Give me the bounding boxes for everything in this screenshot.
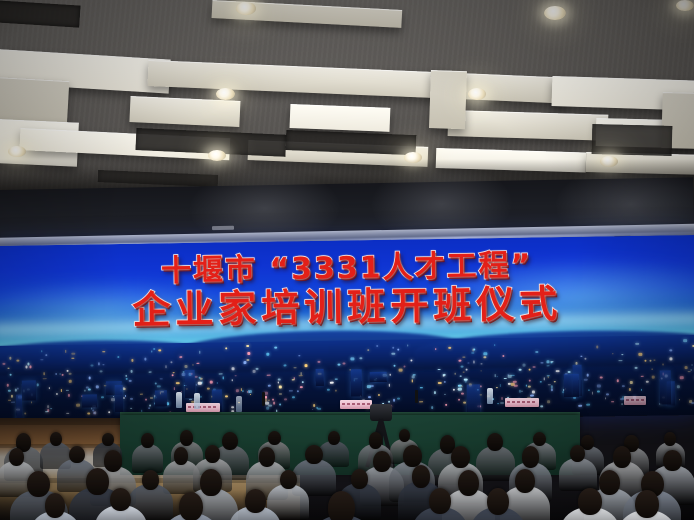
city-light (523, 364, 526, 367)
ceiling-vent (592, 124, 673, 156)
city-light (43, 378, 47, 379)
city-light (268, 405, 272, 407)
city-light (480, 370, 482, 372)
microphone-icon (262, 392, 265, 406)
city-light (452, 389, 454, 391)
city-light (304, 364, 307, 367)
city-tower (659, 370, 671, 405)
city-light (130, 398, 133, 399)
audience-person-head (280, 470, 297, 489)
city-light (123, 387, 125, 389)
audience-person-head (613, 446, 631, 468)
city-light (145, 358, 147, 361)
city-light (546, 360, 550, 363)
city-light (96, 386, 98, 389)
audience-person-head (663, 450, 681, 471)
city-light (461, 385, 463, 386)
city-light (688, 371, 690, 372)
city-light (98, 362, 100, 365)
city-light (480, 385, 482, 387)
city-light (463, 402, 465, 404)
city-light (265, 396, 267, 399)
city-light (219, 373, 223, 374)
city-light (8, 399, 12, 400)
city-light (551, 388, 553, 390)
city-light (292, 396, 295, 398)
city-light (268, 399, 270, 401)
audience-person-head (69, 446, 84, 464)
city-light (65, 350, 67, 353)
ceiling-panel (129, 96, 240, 127)
city-light (458, 399, 461, 401)
city-light (7, 384, 9, 386)
city-light (72, 353, 76, 355)
city-light (605, 398, 607, 400)
city-light (420, 387, 422, 388)
city-light (540, 381, 542, 383)
place-card-icon (505, 398, 539, 407)
city-light (157, 386, 161, 388)
city-light (197, 363, 200, 364)
city-light (149, 371, 152, 372)
audience-person-head (578, 488, 602, 515)
city-tower (22, 380, 37, 400)
city-light (297, 390, 299, 392)
city-light (69, 379, 72, 382)
city-light (584, 379, 587, 381)
city-light (543, 377, 544, 380)
city-light (244, 361, 247, 363)
city-light (530, 394, 534, 396)
city-light (236, 389, 238, 392)
city-light (8, 390, 10, 392)
audience-person-head (369, 432, 383, 449)
city-light (301, 381, 304, 383)
city-light (207, 388, 210, 389)
city-light (444, 381, 446, 383)
city-light (630, 381, 633, 383)
microphone-icon (415, 390, 418, 403)
city-light (272, 399, 274, 401)
city-light (246, 359, 249, 361)
city-light (130, 370, 132, 372)
audience-person-head (9, 448, 24, 467)
city-light (172, 372, 174, 374)
city-light (199, 377, 201, 379)
city-light (690, 369, 691, 371)
city-light (597, 390, 600, 392)
city-light (420, 401, 424, 403)
audience-person-head (429, 488, 451, 514)
city-light (460, 365, 463, 367)
city-light (677, 386, 680, 389)
city-light (467, 363, 469, 364)
city-light (592, 392, 593, 395)
city-light (8, 368, 10, 369)
city-light (438, 369, 440, 370)
audience-person-head (599, 470, 620, 495)
city-light (66, 390, 68, 391)
audience-person (559, 458, 597, 491)
city-light (398, 349, 400, 351)
city-light (174, 387, 176, 390)
city-light (247, 391, 249, 393)
city-light (327, 389, 330, 390)
city-light (171, 362, 172, 364)
water-bottle-icon (487, 388, 493, 404)
city-light (232, 379, 233, 382)
city-light (596, 346, 598, 348)
city-light (247, 352, 250, 355)
city-light (393, 347, 395, 349)
city-light (342, 362, 345, 364)
city-tower (155, 390, 167, 406)
city-light (433, 391, 435, 394)
city-light (454, 373, 456, 375)
audience-person-head (222, 432, 238, 450)
city-light (266, 352, 269, 355)
city-light (25, 366, 28, 369)
city-light (394, 365, 395, 367)
city-light (438, 382, 441, 383)
city-light (635, 367, 638, 369)
city-light (312, 409, 313, 411)
city-light (388, 401, 390, 403)
city-light (99, 371, 103, 373)
city-light (279, 393, 283, 394)
city-tower (315, 369, 323, 385)
city-light (484, 356, 486, 358)
city-light (636, 343, 639, 345)
city-light (88, 389, 91, 391)
city-light (641, 376, 644, 377)
city-light (159, 379, 162, 380)
city-light (150, 398, 152, 399)
city-light (252, 370, 255, 373)
audience-person-head (142, 470, 160, 490)
city-light (11, 401, 14, 402)
city-light (71, 358, 74, 359)
city-light (573, 397, 576, 399)
city-light (68, 373, 71, 375)
city-light (171, 374, 173, 376)
city-light (250, 394, 252, 395)
city-light (145, 398, 148, 400)
city-light (155, 383, 157, 385)
city-light (670, 358, 673, 360)
downlight-icon (544, 6, 566, 20)
audience-person-head (102, 433, 114, 446)
audience-person-head (179, 492, 203, 520)
city-light (496, 376, 497, 378)
city-light (274, 401, 276, 404)
water-bottle-icon (176, 392, 182, 408)
city-light (483, 353, 487, 356)
city-light (337, 364, 341, 366)
city-light (521, 390, 524, 392)
city-light (622, 385, 625, 387)
city-light (284, 364, 287, 366)
downlight-icon (676, 0, 694, 11)
audience-person-head (328, 431, 340, 445)
city-light (528, 386, 531, 388)
city-light (108, 411, 110, 413)
city-light (651, 369, 653, 370)
city-light (653, 359, 655, 361)
city-light (101, 396, 104, 398)
city-light (547, 377, 548, 379)
city-light (151, 350, 153, 353)
city-light (528, 380, 531, 381)
city-light (532, 391, 535, 394)
audience-person-head (205, 445, 221, 463)
city-light (474, 361, 475, 364)
city-light (11, 395, 13, 397)
city-light (232, 368, 235, 371)
city-light (225, 347, 228, 349)
city-light (443, 374, 445, 377)
city-light (192, 364, 193, 365)
audience-person-head (515, 469, 535, 493)
city-light (292, 379, 295, 380)
city-light (2, 363, 5, 365)
city-light (37, 383, 39, 386)
city-light (494, 344, 495, 346)
downlight-icon (8, 146, 26, 157)
city-light (48, 406, 49, 408)
city-light (403, 366, 405, 368)
city-light (500, 385, 501, 388)
city-light (378, 394, 380, 396)
audience-person-head (305, 445, 322, 464)
audience-person-head (351, 469, 368, 489)
city-light (650, 360, 652, 362)
city-light (368, 349, 370, 351)
city-light (234, 375, 237, 377)
city-light (24, 412, 27, 415)
city-light (502, 355, 504, 358)
city-light (606, 393, 609, 396)
city-light (289, 390, 293, 391)
city-light (246, 345, 249, 347)
city-tower (370, 371, 387, 382)
city-light (622, 403, 623, 404)
city-light (268, 384, 271, 387)
city-light (472, 352, 474, 353)
city-light (330, 381, 333, 383)
city-light (67, 370, 69, 371)
city-light (464, 379, 467, 381)
city-light (435, 348, 437, 350)
audience-person-head (259, 447, 276, 467)
city-light (45, 354, 48, 356)
audience-person-head (104, 450, 122, 471)
city-light (84, 390, 86, 392)
city-light (200, 377, 202, 379)
city-light (514, 385, 518, 387)
city-light (62, 374, 64, 376)
conference-hall-photo: 十堰市 “3331人才工程” 企业家培训班开班仪式 (0, 0, 694, 520)
city-light (611, 401, 615, 402)
city-light (359, 358, 362, 360)
city-light (44, 372, 45, 375)
city-light (41, 350, 43, 353)
city-light (185, 365, 187, 368)
audience-person-head (412, 465, 431, 488)
city-light (459, 376, 461, 377)
city-light (231, 406, 234, 408)
audience-person-head (45, 493, 65, 518)
city-light (90, 365, 94, 367)
city-light (199, 350, 200, 353)
city-light (277, 382, 278, 384)
city-light (597, 385, 601, 388)
city-light (16, 360, 19, 363)
city-light (368, 396, 371, 398)
city-light (87, 412, 90, 414)
city-light (56, 393, 58, 395)
city-light (56, 373, 58, 375)
audience-person-head (522, 446, 539, 467)
city-light (60, 389, 61, 392)
city-light (411, 375, 414, 378)
city-light (265, 402, 269, 405)
city-light (216, 383, 217, 384)
city-tower (351, 370, 362, 397)
audience-person-head (373, 451, 390, 472)
city-light (444, 394, 446, 395)
audience-person-head (141, 433, 153, 448)
city-light (335, 389, 336, 391)
city-light (299, 376, 303, 377)
city-light (533, 366, 536, 368)
city-light (266, 407, 268, 410)
city-light (461, 393, 464, 394)
city-light (613, 353, 614, 354)
city-light (298, 355, 299, 356)
city-light (462, 357, 465, 358)
city-light (50, 408, 52, 410)
city-light (410, 359, 412, 361)
city-light (165, 365, 166, 368)
city-light (629, 388, 631, 391)
city-light (397, 398, 399, 400)
audience-person-head (50, 432, 62, 446)
city-light (198, 381, 202, 384)
city-light (255, 368, 258, 370)
water-bottle-icon (236, 396, 242, 412)
city-light (540, 362, 543, 364)
city-light (508, 375, 512, 378)
city-light (685, 367, 688, 370)
city-light (225, 395, 228, 397)
city-light (294, 367, 296, 369)
city-tower (564, 374, 579, 398)
city-light (300, 386, 303, 388)
city-light (619, 360, 622, 361)
city-light (586, 403, 590, 406)
city-light (669, 350, 673, 351)
audience-person-head (245, 489, 266, 512)
audience-person-head (664, 432, 676, 446)
city-light (29, 366, 31, 368)
city-light (102, 365, 105, 366)
city-light (445, 404, 446, 406)
audience-person-head (180, 430, 193, 446)
city-light (651, 376, 655, 378)
city-light (407, 344, 408, 346)
wall-plate (212, 226, 234, 230)
audience-person-head (487, 433, 503, 451)
city-light (644, 360, 646, 361)
city-light (497, 403, 499, 405)
city-light (540, 405, 543, 407)
city-light (9, 357, 12, 360)
city-light (683, 339, 687, 342)
city-light (49, 387, 50, 389)
audience-person-head (200, 469, 221, 495)
city-light (376, 345, 378, 347)
city-light (581, 356, 583, 357)
city-light (528, 369, 530, 371)
city-light (680, 376, 684, 379)
city-light (279, 386, 282, 388)
city-light (279, 404, 281, 405)
audience-person-head (635, 490, 659, 518)
city-light (617, 380, 619, 383)
city-light (313, 404, 316, 407)
downlight-icon (468, 88, 486, 100)
downlight-icon (216, 88, 235, 100)
ceiling-panel (290, 104, 391, 132)
city-light (679, 399, 681, 400)
audience-person-head (328, 491, 355, 520)
city-light (66, 413, 69, 415)
city-light (124, 395, 125, 396)
city-light (130, 408, 132, 410)
audience-person (132, 444, 163, 473)
city-light (158, 350, 161, 351)
city-light (40, 359, 43, 360)
city-light (367, 385, 371, 388)
audience-person-head (399, 429, 411, 442)
city-light (389, 373, 390, 375)
city-light (123, 397, 125, 399)
audience-person-head (487, 488, 509, 515)
city-light (431, 406, 433, 408)
city-light (412, 380, 413, 383)
city-light (639, 353, 643, 356)
city-light (588, 389, 589, 390)
city-light (179, 356, 183, 358)
city-light (240, 388, 242, 390)
city-light (546, 365, 549, 367)
city-light (503, 378, 507, 379)
city-light (536, 352, 538, 353)
city-light (646, 381, 649, 382)
city-light (547, 400, 549, 403)
city-light (242, 390, 244, 392)
city-light (465, 369, 467, 371)
audience-person-head (86, 468, 109, 494)
audience (0, 424, 694, 520)
audience-person-head (268, 431, 281, 445)
city-light (584, 358, 586, 361)
downlight-icon (236, 2, 256, 15)
city-light (392, 352, 396, 354)
city-light (548, 384, 552, 386)
city-light (519, 369, 522, 370)
